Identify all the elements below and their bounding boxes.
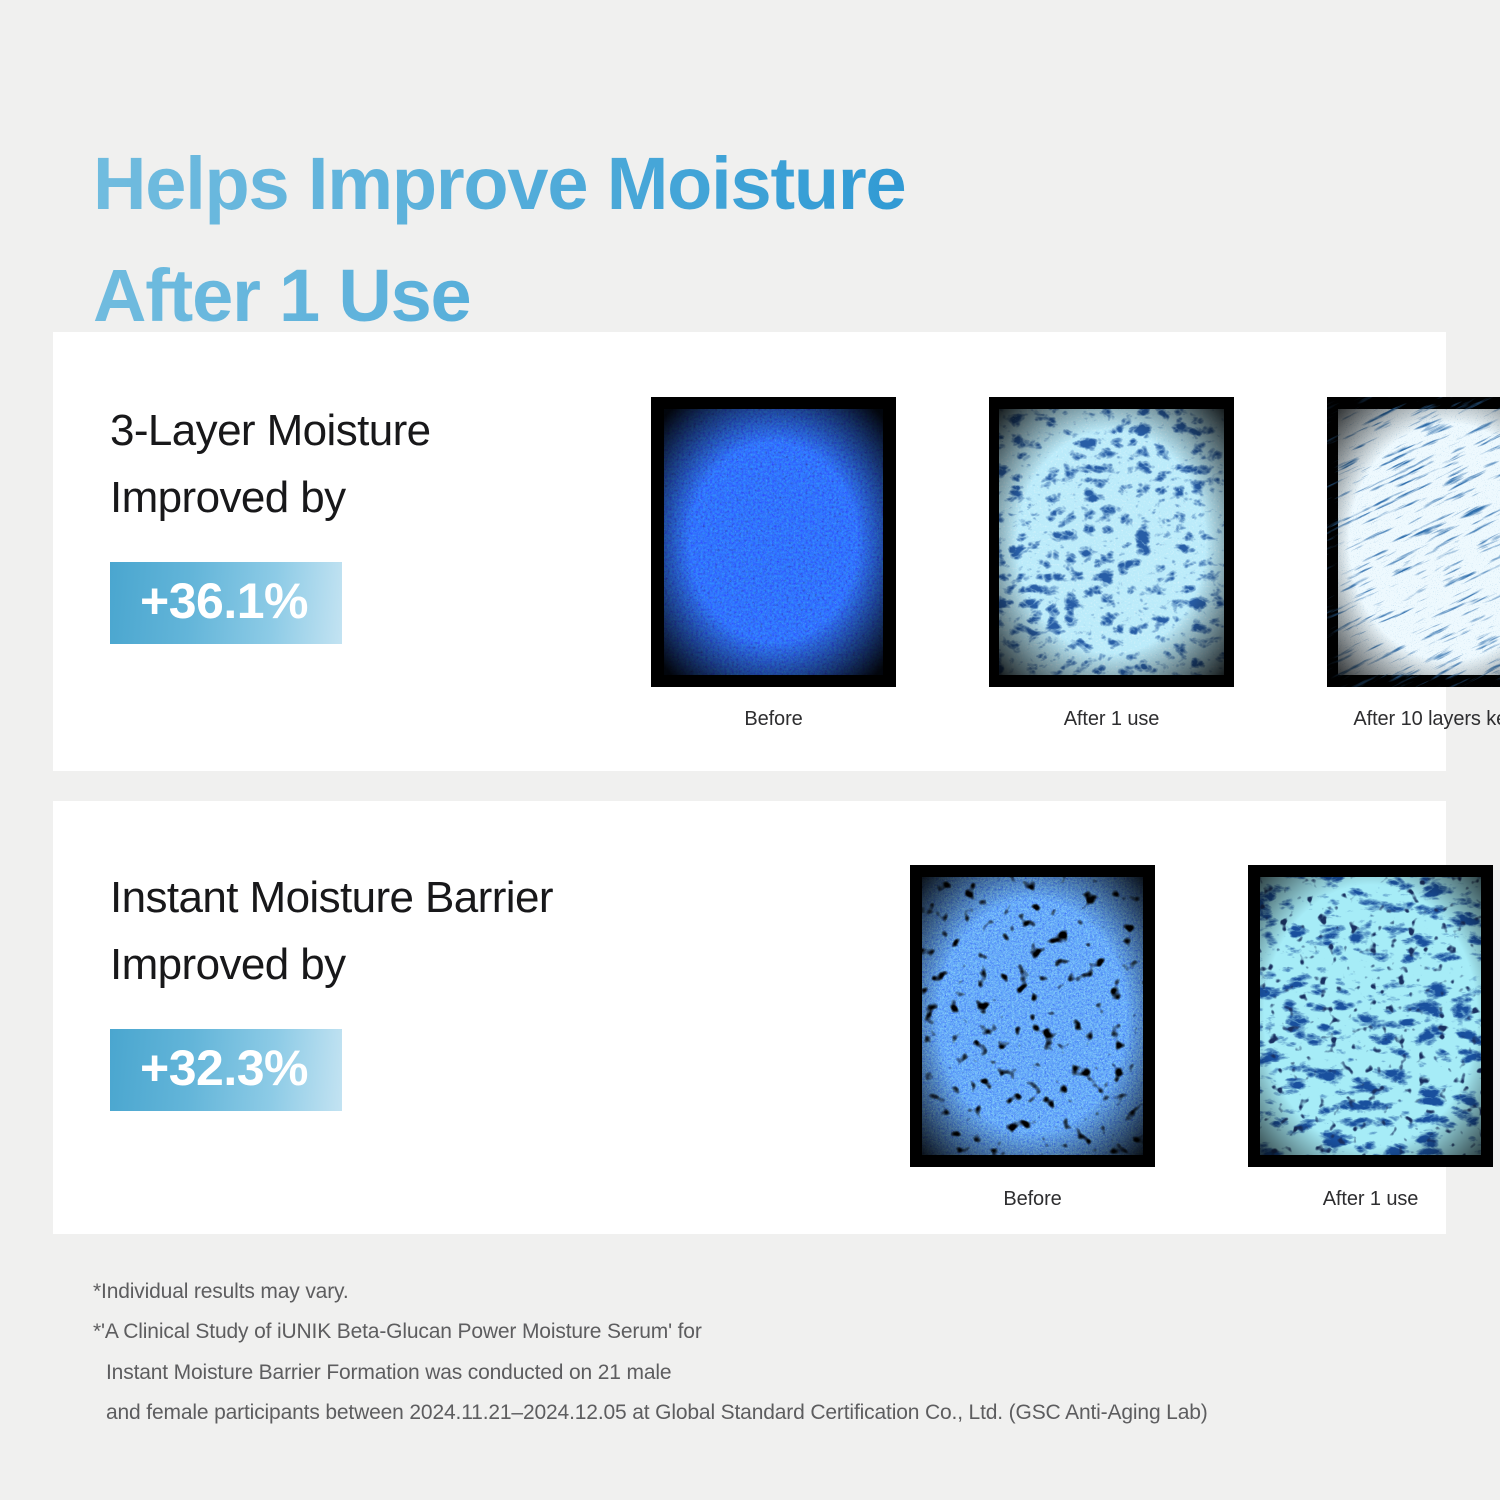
stat-block: Instant Moisture Barrier Improved by +32… — [110, 865, 553, 1111]
footnote-line: Instant Moisture Barrier Formation was c… — [93, 1353, 1208, 1393]
micrograph-dark-blue-speckle-icon — [651, 397, 896, 687]
micrograph-item: Before — [651, 397, 896, 731]
micrograph-cyan-network-icon — [989, 397, 1234, 687]
page-title: Helps Improve Moisture After 1 Use — [93, 128, 1193, 353]
micrograph-item: Before — [910, 865, 1155, 1211]
status-badge: +36.1% — [110, 562, 342, 644]
micrograph-item: After 1 use — [989, 397, 1234, 731]
micrograph-item: After 10 layers keratin — [1327, 397, 1500, 731]
promo-page: Helps Improve Moisture After 1 Use 3-Lay… — [0, 0, 1500, 1500]
micrograph-cyan-branching-icon — [1248, 865, 1493, 1167]
footnote-line: *Individual results may vary. — [93, 1272, 1208, 1312]
micrograph-caption: After 1 use — [989, 708, 1234, 731]
micrograph-caption: Before — [651, 708, 896, 731]
stat-title: 3-Layer Moisture Improved by — [110, 398, 431, 532]
micrograph-white-striation-icon — [1327, 397, 1500, 687]
stat-card-3-layer-moisture: 3-Layer Moisture Improved by +36.1% — [53, 332, 1446, 771]
micrograph-item: After 1 use — [1248, 865, 1493, 1211]
stat-block: 3-Layer Moisture Improved by +36.1% — [110, 398, 431, 644]
footnote-line: and female participants between 2024.11.… — [93, 1393, 1208, 1433]
micrograph-strip: Before — [870, 849, 1500, 1227]
micrograph-caption: Before — [910, 1188, 1155, 1211]
status-badge: +32.3% — [110, 1029, 342, 1111]
footnotes: *Individual results may vary. *'A Clinic… — [93, 1272, 1208, 1433]
micrograph-caption: After 10 layers keratin — [1327, 708, 1500, 731]
micrograph-blue-porous-icon — [910, 865, 1155, 1167]
stat-card-instant-moisture-barrier: Instant Moisture Barrier Improved by +32… — [53, 801, 1446, 1234]
micrograph-strip: Before — [611, 381, 1500, 747]
micrograph-caption: After 1 use — [1248, 1188, 1493, 1211]
stat-title: Instant Moisture Barrier Improved by — [110, 865, 553, 999]
footnote-line: *'A Clinical Study of iUNIK Beta-Glucan … — [93, 1312, 1208, 1352]
